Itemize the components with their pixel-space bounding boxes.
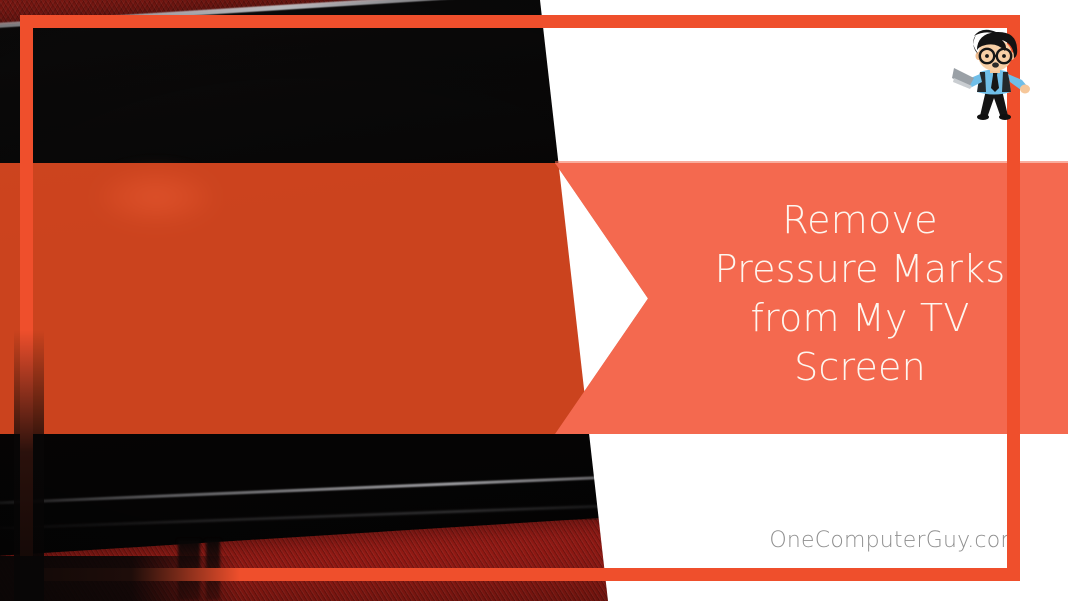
headline-title: Remove Pressure Marks from My TV Screen bbox=[700, 196, 1020, 392]
featured-image-canvas: Remove Pressure Marks from My TV Screen … bbox=[0, 0, 1068, 601]
computer-guy-icon bbox=[952, 28, 1038, 120]
tv-stand-foot-secondary bbox=[206, 540, 220, 600]
tv-stand-foot bbox=[178, 540, 200, 600]
site-url-text: OneComputerGuy.com bbox=[700, 528, 1022, 553]
mascot-logo bbox=[952, 28, 1038, 120]
